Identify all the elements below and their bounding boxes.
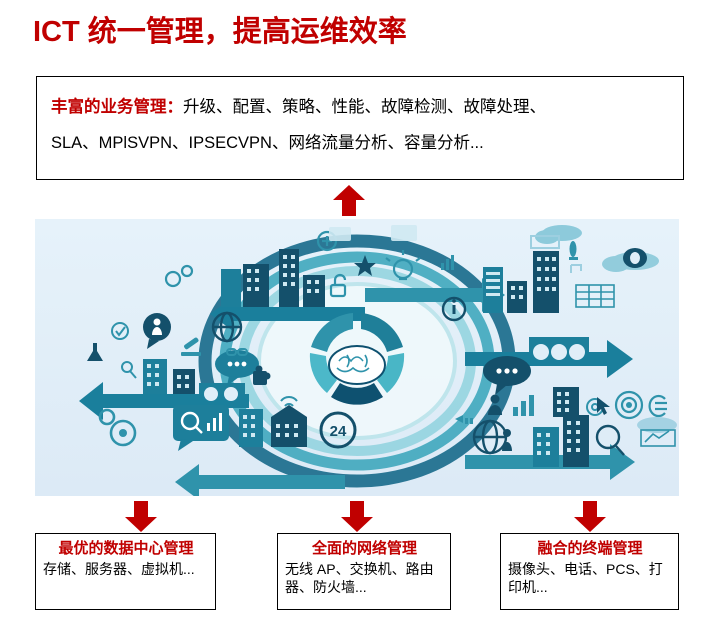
feature-line2: SLA、MPlSVPN、IPSECVPN、网络流量分析、容量分析... <box>51 127 671 161</box>
down-arrow-icon-3 <box>573 500 607 534</box>
feature-lead-label: 丰富的业务管理： <box>51 98 183 116</box>
bottom-box-desc: 摄像头、电话、PCS、打印机... <box>508 560 672 598</box>
feature-line1-rest: 升级、配置、策略、性能、故障检测、故障处理、 <box>183 98 546 116</box>
bottom-box-network: 全面的网络管理 无线 AP、交换机、路由器、防火墙... <box>277 533 451 610</box>
bottom-box-datacenter: 最优的数据中心管理 存储、服务器、虚拟机... <box>35 533 216 610</box>
bottom-box-desc: 无线 AP、交换机、路由器、防火墙... <box>285 560 444 598</box>
bottom-box-title: 最优的数据中心管理 <box>43 539 209 559</box>
svg-text:24: 24 <box>330 423 347 440</box>
bottom-box-title: 融合的终端管理 <box>508 539 672 559</box>
down-arrow-icon-1 <box>124 500 158 534</box>
feature-text-content: 丰富的业务管理：升级、配置、策略、性能、故障检测、故障处理、 SLA、MPlSV… <box>37 77 683 161</box>
bottom-box-desc: 存储、服务器、虚拟机... <box>43 560 209 579</box>
up-arrow-icon <box>332 183 366 217</box>
page-title: ICT 统一管理，提高运维效率 <box>33 16 407 49</box>
bottom-box-terminal: 融合的终端管理 摄像头、电话、PCS、打印机... <box>500 533 679 610</box>
down-arrow-icon-2 <box>340 500 374 534</box>
ict-infographic: 24 <box>35 219 679 496</box>
bottom-box-title: 全面的网络管理 <box>285 539 444 559</box>
feature-text-box: 丰富的业务管理：升级、配置、策略、性能、故障检测、故障处理、 SLA、MPlSV… <box>36 76 684 180</box>
